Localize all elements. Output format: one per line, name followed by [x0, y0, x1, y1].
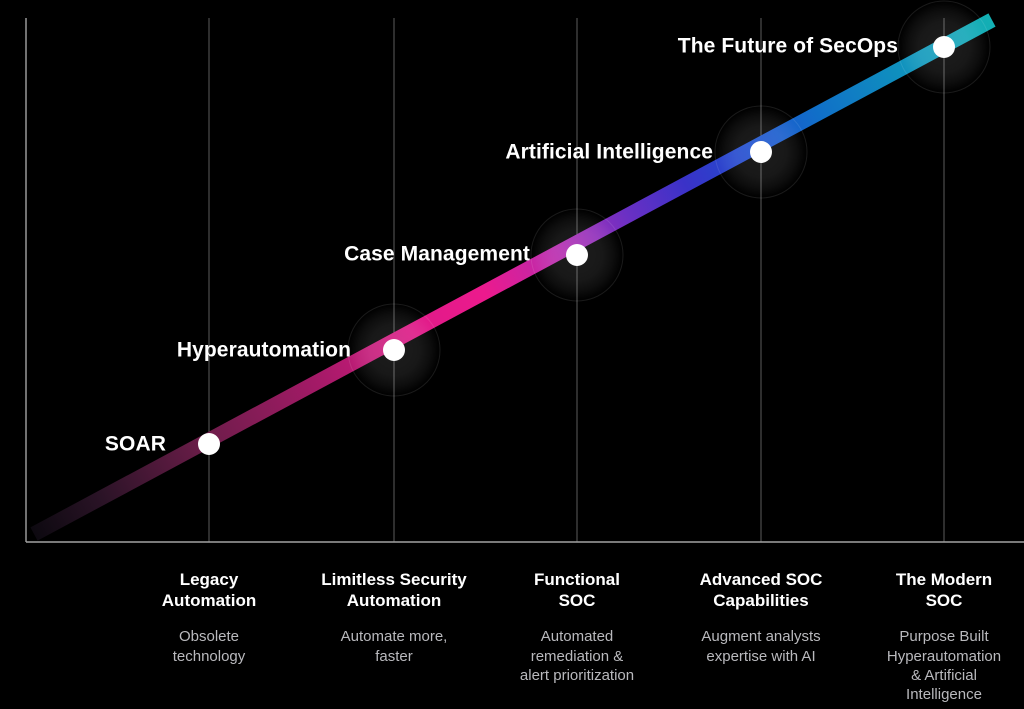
axis-label-subtitle: Purpose Built Hyperautomation & Artifici…: [857, 627, 1024, 704]
axis-label-subtitle: Automated remediation & alert prioritiza…: [482, 627, 672, 685]
axis-label-subtitle: Obsolete technology: [119, 627, 299, 665]
axis-label-subtitle: Automate more, faster: [294, 627, 494, 665]
axis-label-title: Limitless Security Automation: [294, 570, 494, 611]
axis-label-the-modern-soc: The Modern SOC Purpose Built Hyperautoma…: [857, 570, 1024, 704]
axis-label-title: Functional SOC: [482, 570, 672, 611]
milestone-dot-soar: [198, 433, 220, 455]
axis-label-subtitle: Augment analysts expertise with AI: [666, 627, 856, 665]
axis-label-functional-soc: Functional SOC Automated remediation & a…: [482, 570, 672, 685]
axis-label-title: The Modern SOC: [857, 570, 1024, 611]
axis-label-title: Advanced SOC Capabilities: [666, 570, 856, 611]
milestone-label-soar: SOAR: [105, 434, 166, 455]
milestone-label-hyperautomation: Hyperautomation: [177, 340, 351, 361]
axis-label-advanced-soc-capabilities: Advanced SOC Capabilities Augment analys…: [666, 570, 856, 666]
trend-line: [34, 20, 992, 534]
axis-label-limitless-security-automation: Limitless Security Automation Automate m…: [294, 570, 494, 666]
axis-label-legacy-automation: Legacy Automation Obsolete technology: [119, 570, 299, 666]
milestone-dot-artificial-intelligence: [750, 141, 772, 163]
chart-canvas: SOAR Hyperautomation Case Management Art…: [0, 0, 1024, 709]
axis-label-title: Legacy Automation: [119, 570, 299, 611]
milestone-dot-hyperautomation: [383, 339, 405, 361]
milestone-label-artificial-intelligence: Artificial Intelligence: [505, 142, 713, 163]
milestone-dot-case-management: [566, 244, 588, 266]
milestone-label-future-of-secops: The Future of SecOps: [678, 36, 898, 57]
milestone-dot-future-of-secops: [933, 36, 955, 58]
milestone-label-case-management: Case Management: [344, 244, 530, 265]
